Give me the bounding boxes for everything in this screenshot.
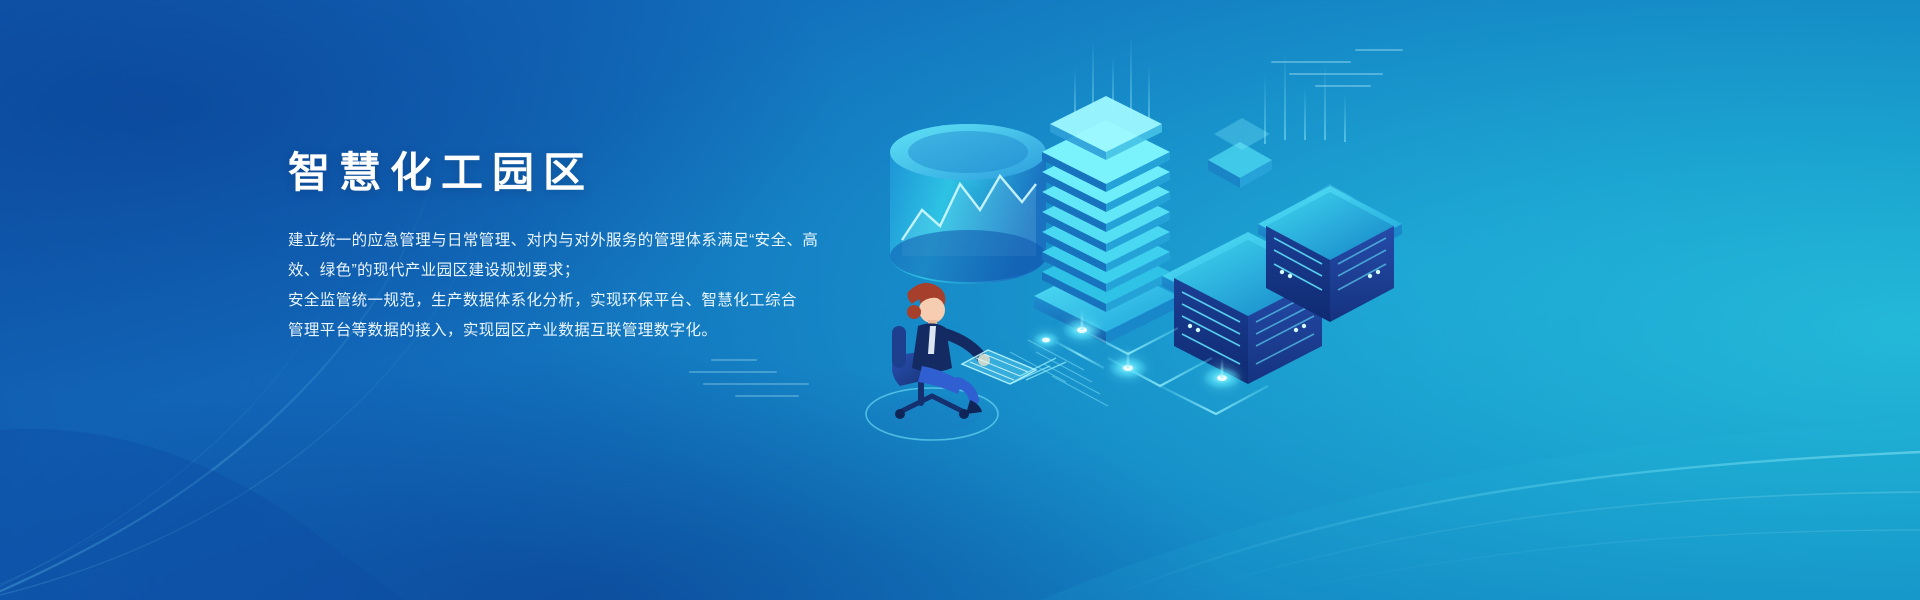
- stacked-server-tower: [1034, 96, 1178, 344]
- hero-description: 建立统一的应急管理与日常管理、对内与对外服务的管理体系满足“安全、高 效、绿色”…: [288, 226, 908, 346]
- description-line-2: 效、绿色”的现代产业园区建设规划要求；: [288, 256, 908, 286]
- wave-left-4: [0, 486, 176, 600]
- description-line-3: 安全监管统一规范，生产数据体系化分析，实现环保平台、智慧化工综合: [288, 286, 908, 316]
- description-line-4: 管理平台等数据的接入，实现园区产业数据互联管理数字化。: [288, 316, 908, 346]
- wave-right-2: [1160, 492, 1920, 600]
- page-title: 智慧化工园区: [288, 148, 908, 198]
- hero-content: 智慧化工园区 建立统一的应急管理与日常管理、对内与对外服务的管理体系满足“安全、…: [288, 148, 908, 346]
- cylinder-data-chart: [890, 124, 1046, 284]
- server-disc-stack: [1042, 96, 1170, 312]
- hero-banner: 智慧化工园区 建立统一的应急管理与日常管理、对内与对外服务的管理体系满足“安全、…: [0, 0, 1920, 600]
- wave-left-fill: [0, 429, 405, 600]
- description-line-1: 建立统一的应急管理与日常管理、对内与对外服务的管理体系满足“安全、高: [288, 226, 908, 256]
- hero-illustration: [860, 34, 1420, 464]
- cloud-strokes-mid-left: [690, 360, 808, 396]
- wave-right-1: [1100, 452, 1920, 600]
- wave-right-3: [1240, 530, 1920, 600]
